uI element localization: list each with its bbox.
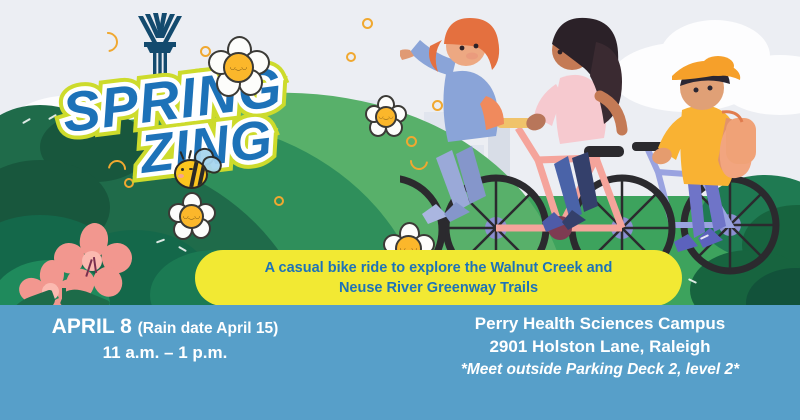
event-description-banner: A casual bike ride to explore the Walnut…	[195, 250, 682, 306]
daisy-flower-icon: ◡‿◡	[208, 36, 266, 94]
daisy-face: ◡‿◡	[230, 64, 248, 71]
spring-zing-poster: SPRING ZING SPRING ZING ◡‿◡ ◡‿◡ ◡‿◡ ◡‿◡	[0, 0, 800, 420]
footer-info-bar: APRIL 8 (Rain date April 15) 11 a.m. – 1…	[0, 305, 800, 420]
meeting-note: *Meet outside Parking Deck 2, level 2*	[400, 360, 800, 381]
location-block: Perry Health Sciences Campus 2901 Holsto…	[400, 313, 800, 381]
event-date: APRIL 8	[52, 315, 132, 338]
bee-icon	[172, 150, 218, 190]
ring-decoration	[362, 18, 373, 29]
event-date-line: APRIL 8 (Rain date April 15)	[0, 315, 330, 339]
banner-line-1: A casual bike ride to explore the Walnut…	[265, 260, 613, 277]
daisy-flower-icon: ◡‿◡	[168, 192, 212, 236]
venue-address: 2901 Holston Lane, Raleigh	[400, 336, 800, 359]
daisy-flower-icon: ◡‿◡	[365, 95, 403, 133]
daisy-face: ◡‿◡	[183, 213, 201, 220]
venue-name: Perry Health Sciences Campus	[400, 313, 800, 336]
ring-decoration	[432, 100, 443, 111]
daisy-face: ◡‿◡	[378, 114, 393, 120]
ring-decoration	[346, 52, 356, 62]
ring-decoration	[406, 136, 417, 147]
banner-line-2: Neuse River Greenway Trails	[339, 280, 538, 297]
ring-decoration	[274, 196, 284, 206]
event-time: 11 a.m. – 1 p.m.	[0, 343, 330, 363]
date-time-block: APRIL 8 (Rain date April 15) 11 a.m. – 1…	[0, 315, 330, 363]
cyclist-pointing	[400, 18, 504, 224]
rain-date: (Rain date April 15)	[138, 320, 279, 337]
